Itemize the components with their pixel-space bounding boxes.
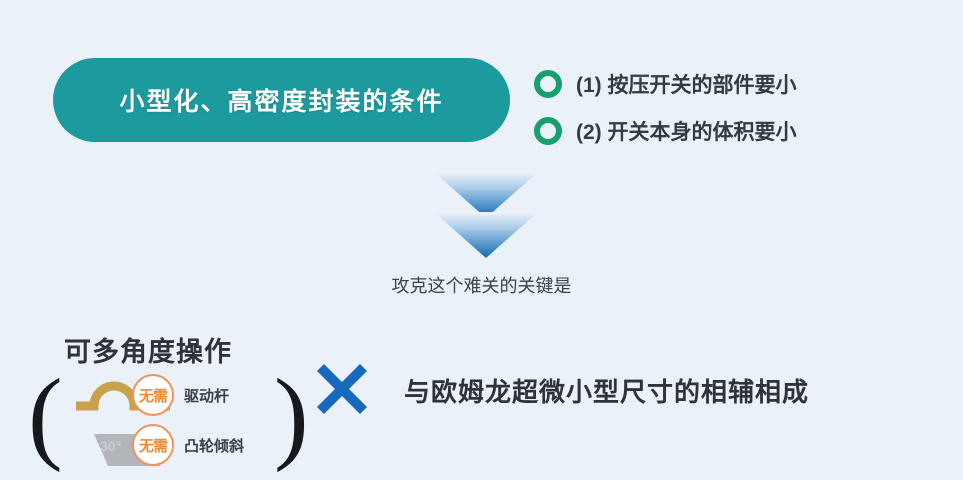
condition-list: (1) 按压开关的部件要小 (2) 开关本身的体积要小 bbox=[534, 60, 954, 154]
feature-cam: 30° 无需 凸轮倾斜 bbox=[74, 422, 244, 468]
ring-bullet-icon bbox=[534, 117, 562, 145]
condition-item-label: (1) 按压开关的部件要小 bbox=[576, 69, 797, 99]
lever-glyph-wrap: 无需 bbox=[74, 372, 178, 418]
feature-lever: 无需 驱动杆 bbox=[74, 372, 229, 418]
feature-label-cam: 凸轮倾斜 bbox=[184, 435, 244, 456]
condition-pill-label: 小型化、高密度封装的条件 bbox=[119, 82, 443, 118]
multi-angle-group: 可多角度操作 ( ) 无需 驱动杆 30° 无需 凸轮倾斜 bbox=[26, 330, 316, 478]
feature-label-lever: 驱动杆 bbox=[184, 385, 229, 406]
multi-angle-heading: 可多角度操作 bbox=[64, 330, 232, 369]
right-statement: 与欧姆龙超微小型尺寸的相辅相成 bbox=[404, 372, 809, 409]
condition-pill: 小型化、高密度封装的条件 bbox=[53, 58, 510, 142]
list-item: (1) 按压开关的部件要小 bbox=[534, 60, 954, 107]
cam-glyph-wrap: 30° 无需 bbox=[74, 422, 178, 468]
condition-item-label: (2) 开关本身的体积要小 bbox=[576, 116, 797, 146]
no-need-badge: 无需 bbox=[132, 374, 174, 416]
ring-bullet-icon bbox=[534, 70, 562, 98]
paren-close: ) bbox=[274, 364, 309, 468]
down-arrow-icon bbox=[434, 212, 538, 258]
slide-canvas: 小型化、高密度封装的条件 (1) 按压开关的部件要小 (2) 开关本身的体积要小 bbox=[0, 0, 963, 480]
blue-cross-icon bbox=[315, 362, 369, 416]
cam-angle-label: 30° bbox=[100, 438, 121, 454]
transition-caption: 攻克这个难关的关键是 bbox=[0, 272, 963, 298]
list-item: (2) 开关本身的体积要小 bbox=[534, 107, 954, 154]
no-need-badge: 无需 bbox=[132, 424, 174, 466]
paren-open: ( bbox=[28, 364, 63, 468]
